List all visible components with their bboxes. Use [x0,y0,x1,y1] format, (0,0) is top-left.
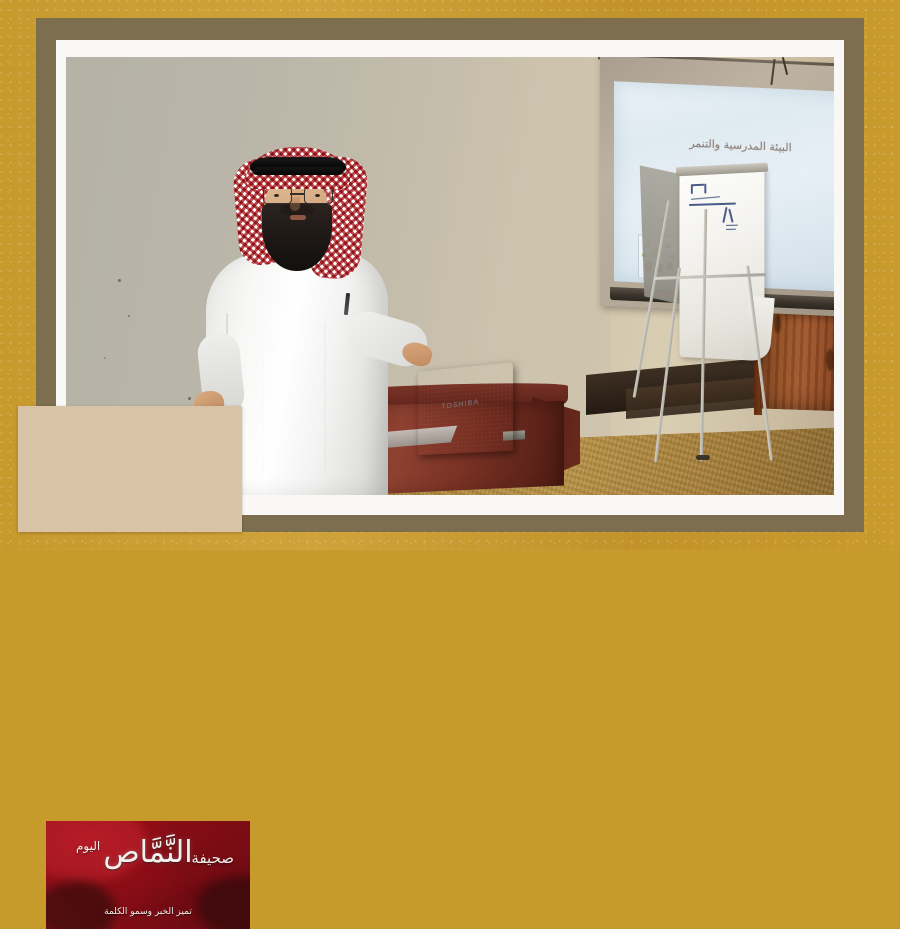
logo-top-text: اليوم [76,839,100,853]
igal-lower-cord [253,167,343,175]
logo-badge-frame: النَّمَّاص صحيفة اليوم تميز الخبر وسمو ا… [18,406,242,532]
easel-foot [696,455,710,460]
flipchart-easel [636,147,806,467]
presenter-mouth [290,215,306,220]
logo-badge[interactable]: النَّمَّاص صحيفة اليوم تميز الخبر وسمو ا… [46,821,250,929]
laptop-lid: TOSHIBA [418,362,513,455]
laptop-brand-label: TOSHIBA [433,398,489,412]
logo-tagline: تميز الخبر وسمو الكلمة [46,907,250,917]
eyeglasses-icon [263,187,331,203]
logo-sub-text: صحيفة [191,849,234,867]
screenshot-root: البيئة المدرسية والتنمر [0,0,900,550]
